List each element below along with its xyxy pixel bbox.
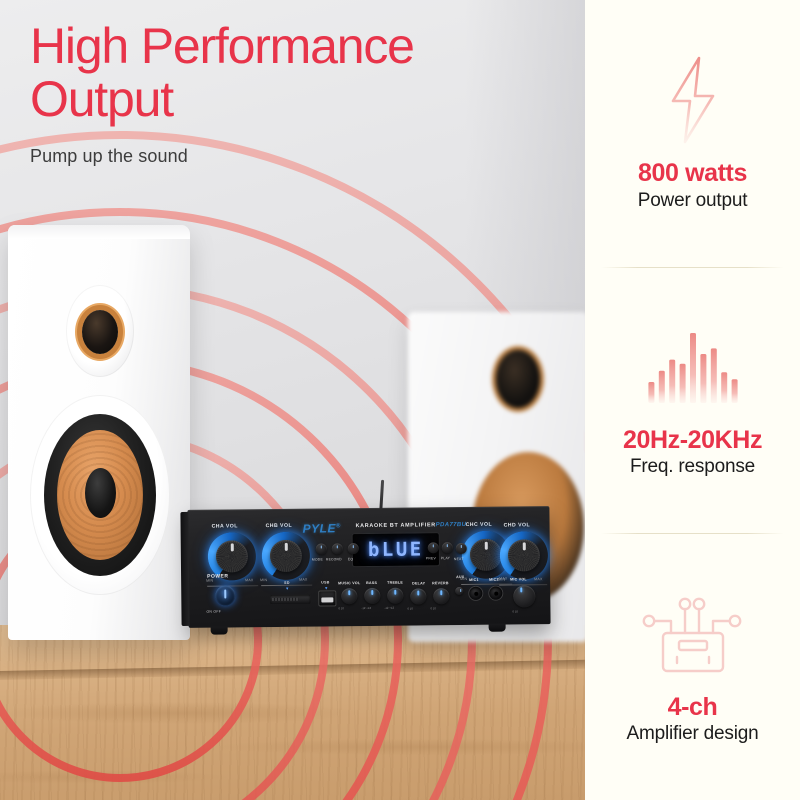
headline-line-1: High Performance	[30, 18, 414, 74]
feature-value-channels: 4-ch	[668, 694, 718, 722]
knob-label-chc: CHC VOL	[466, 522, 493, 528]
knob-label-chb: CHB VOL	[266, 523, 293, 529]
knob-label-mic-vol: MIC VOL	[510, 577, 527, 581]
knob-delay[interactable]	[410, 588, 426, 604]
tweeter-dome	[82, 310, 118, 354]
feature-power-output: 800 watts Power output	[585, 0, 800, 267]
brand-logo: PYLE®	[303, 521, 341, 535]
sd-card-slot[interactable]	[270, 595, 310, 604]
knob-bass[interactable]	[364, 588, 380, 604]
knob-label-cha: CHA VOL	[212, 523, 238, 529]
feature-label-freq: Freq. response	[630, 456, 755, 479]
feature-label-channels: Amplifier design	[627, 723, 759, 746]
feature-freq-response: 20Hz-20KHz Freq. response	[585, 267, 800, 534]
woofer-dust-cap	[85, 468, 116, 518]
led-display: bLUE	[353, 533, 439, 566]
feature-value-freq: 20Hz-20KHz	[623, 427, 762, 455]
button-mode[interactable]	[316, 543, 327, 554]
feature-sidebar: 800 watts Power output 20Hz-20KHz Freq. …	[585, 0, 800, 800]
knob-label-reverb: REVERB	[432, 581, 449, 585]
page-title: High Performance Output	[30, 20, 510, 126]
usb-label: USB	[321, 580, 330, 584]
headline-block: High Performance Output Pump up the soun…	[30, 20, 510, 167]
knob-label-chd: CHD VOL	[504, 522, 531, 528]
speaker-left	[8, 225, 190, 640]
knob-reverb[interactable]	[433, 588, 449, 604]
led-display-text: bLUE	[368, 538, 424, 561]
knob-max-cha: MAX	[245, 578, 253, 582]
power-button[interactable]	[215, 585, 235, 605]
speaker-left-woofer	[30, 395, 170, 595]
button-next[interactable]	[456, 543, 467, 554]
model-number-text: PDA77BU	[436, 522, 467, 528]
knob-label-aux: AUX	[456, 575, 464, 579]
amplifier-foot	[211, 626, 228, 634]
amplifier-circuit-icon	[641, 588, 745, 680]
feature-amplifier-design: 4-ch Amplifier design	[585, 533, 800, 800]
mic2-jack[interactable]	[489, 587, 502, 600]
hero-product-image: PYLE® KARAOKE BT AMPLIFIER PDA77BU bLUE …	[0, 0, 585, 800]
knob-mic-vol[interactable]	[513, 585, 535, 607]
brand-name: PYLE	[303, 521, 336, 535]
button-prev[interactable]	[428, 542, 439, 553]
button-label-mode: MODE	[312, 557, 323, 561]
knob-min-chd: MIN	[498, 578, 505, 582]
power-states-label: ON OFF	[206, 610, 221, 614]
knob-treble[interactable]	[387, 588, 403, 604]
aux-input-jack[interactable]	[455, 587, 463, 595]
feature-value-power: 800 watts	[638, 160, 747, 188]
knob-label-bass: BASS	[366, 581, 377, 585]
lightning-bolt-icon	[657, 54, 729, 146]
mic1-label: MIC1	[469, 578, 479, 582]
knob-cap	[470, 539, 502, 571]
sd-arrow-icon: ▼	[285, 586, 289, 591]
audio-waveform-icon	[645, 321, 741, 413]
amplifier-unit: PYLE® KARAOKE BT AMPLIFIER PDA77BU bLUE …	[187, 506, 550, 628]
mic2-label: MIC2	[489, 578, 499, 582]
knob-scale-treble: -12 +12	[384, 606, 394, 610]
headline-line-2: Output	[30, 71, 173, 127]
amplifier-foot	[489, 624, 506, 632]
knob-cap	[508, 539, 540, 571]
speaker-left-tweeter	[66, 285, 134, 377]
sd-label: SD	[284, 581, 290, 585]
usb-arrow-icon: ▼	[324, 585, 328, 590]
speaker-right-tweeter	[496, 350, 540, 408]
knob-scale-delay: 0 10	[407, 607, 412, 611]
knob-cap	[270, 540, 302, 572]
knob-label-music-vol: MUSIC VOL	[338, 581, 360, 585]
woofer-surround	[44, 414, 156, 576]
knob-max-chd: MAX	[534, 577, 542, 581]
product-category-text: KARAOKE BT AMPLIFIER	[356, 522, 436, 529]
knob-scale-music-vol: 0 10	[338, 606, 343, 610]
knob-max-chb: MAX	[299, 578, 307, 582]
feature-label-power: Power output	[638, 190, 748, 213]
usb-port[interactable]	[319, 591, 335, 605]
power-label: POWER	[207, 573, 228, 579]
knob-cap	[216, 540, 248, 572]
knob-min-chb: MIN	[260, 578, 267, 582]
button-label-play: PLAY	[441, 556, 450, 560]
brand-trademark: ®	[336, 523, 341, 529]
mic1-jack[interactable]	[469, 587, 482, 600]
knob-label-treble: TREBLE	[387, 581, 403, 585]
knob-music-vol[interactable]	[341, 588, 357, 604]
knob-chd-vol[interactable]	[500, 531, 549, 580]
knob-scale-reverb: 0 10	[430, 606, 435, 610]
button-label-record: RECORD	[326, 557, 342, 561]
button-label-next: NEXT	[454, 557, 464, 561]
button-label-prev: PREV	[426, 556, 436, 560]
button-label-eq: EQ	[348, 557, 353, 561]
headline-subtitle: Pump up the sound	[30, 146, 510, 167]
amplifier-left-side	[180, 512, 189, 626]
knob-track-cha	[207, 585, 258, 587]
knob-chb-vol[interactable]	[262, 532, 311, 581]
button-record[interactable]	[332, 543, 343, 554]
knob-label-delay: DELAY	[412, 581, 425, 585]
knob-scale-mic-vol: 0 10	[512, 609, 517, 613]
knob-scale-bass: -12 +12	[361, 606, 371, 610]
button-eq[interactable]	[348, 543, 359, 554]
woofer-cone	[57, 430, 143, 560]
speaker-left-top	[8, 225, 190, 239]
button-play[interactable]	[442, 542, 453, 553]
